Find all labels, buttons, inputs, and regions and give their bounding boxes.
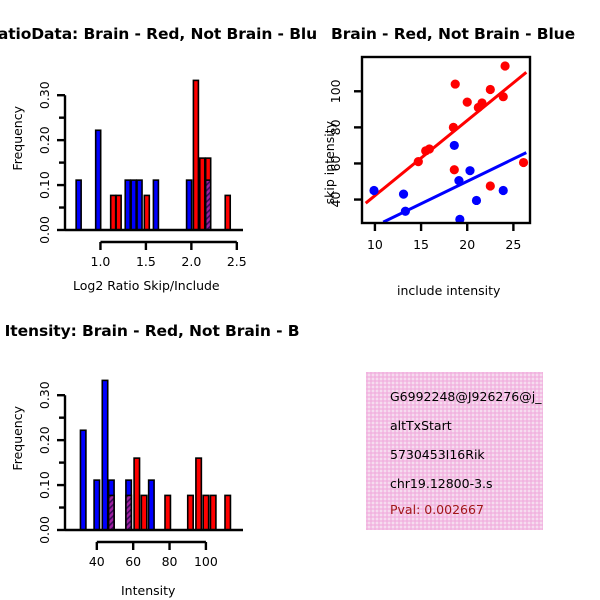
- x-tick-label: 15: [413, 237, 429, 252]
- histogram-bar: [193, 80, 198, 230]
- data-point: [463, 98, 472, 107]
- histogram-bar: [203, 495, 208, 530]
- data-point: [399, 190, 408, 199]
- data-point: [472, 196, 481, 205]
- histogram-bar: [80, 430, 85, 530]
- data-point: [499, 186, 508, 195]
- data-point: [499, 92, 508, 101]
- histogram-bar: [141, 495, 146, 530]
- data-point: [454, 176, 463, 185]
- y-tick-label: 100: [328, 79, 343, 103]
- plot-frame: [362, 57, 530, 223]
- info-gene-symbol: 5730453I16Rik: [390, 447, 542, 462]
- data-point: [519, 158, 528, 167]
- histogram-bar-overlap: [206, 180, 211, 230]
- ratio-histogram-plot: 0.000.100.200.301.01.52.02.5: [0, 0, 300, 300]
- data-point: [414, 157, 423, 166]
- y-tick-label: 0.10: [37, 471, 52, 499]
- intensity-histogram-xlabel: Intensity: [121, 583, 175, 598]
- histogram-bar: [137, 180, 142, 230]
- histogram-bar: [210, 495, 215, 530]
- histogram-bar: [96, 130, 101, 230]
- data-point: [369, 186, 378, 195]
- scatter-title: Brain - Red, Not Brain - Blue: [331, 25, 575, 43]
- ratio-histogram-title: RatioData: Brain - Red, Not Brain - Blu: [0, 25, 317, 43]
- x-tick-label: 20: [459, 237, 475, 252]
- data-point: [486, 85, 495, 94]
- data-point: [401, 207, 410, 216]
- histogram-bar: [116, 195, 121, 230]
- histogram-bar: [225, 195, 230, 230]
- intensity-histogram-title: ne Itensity: Brain - Red, Not Brain - B: [0, 322, 299, 340]
- histogram-bar: [225, 495, 230, 530]
- histogram-bar: [144, 195, 149, 230]
- histogram-bar: [125, 180, 130, 230]
- histogram-bar: [153, 180, 158, 230]
- hist-bars: [80, 380, 230, 530]
- info-event-id: G6992248@J926276@j_: [390, 389, 542, 404]
- y-tick-label: 0.00: [37, 516, 52, 544]
- histogram-bar: [149, 480, 154, 530]
- data-point: [425, 144, 434, 153]
- info-pvalue: Pval: 0.002667: [390, 502, 542, 517]
- scatter-xlabel: include intensity: [397, 283, 500, 298]
- y-tick-label: 0.20: [37, 126, 52, 154]
- histogram-bar: [76, 180, 81, 230]
- data-point: [451, 79, 460, 88]
- data-point: [486, 181, 495, 190]
- x-tick-label: 100: [194, 554, 218, 569]
- histogram-bar: [188, 495, 193, 530]
- data-point: [465, 166, 474, 175]
- hist-bars: [76, 80, 230, 230]
- scatter-ylabel: skip intensity: [322, 121, 337, 204]
- y-tick-label: 0.30: [37, 81, 52, 109]
- x-tick-label: 2.0: [181, 254, 201, 269]
- histogram-bar-overlap: [109, 495, 114, 530]
- x-tick-label: 40: [89, 554, 105, 569]
- intensity-histogram-ylabel: Frequency: [10, 406, 25, 471]
- ratio-histogram-xlabel: Log2 Ratio Skip/Include: [73, 278, 220, 293]
- x-tick-label: 80: [162, 554, 178, 569]
- histogram-bar: [196, 458, 201, 530]
- ratio-histogram-ylabel: Frequency: [10, 106, 25, 171]
- info-locus: chr19.12800-3.s: [390, 476, 542, 491]
- data-point: [477, 98, 486, 107]
- histogram-bar: [134, 458, 139, 530]
- data-point: [450, 141, 459, 150]
- histogram-bar: [102, 380, 107, 530]
- x-tick-label: 25: [505, 237, 521, 252]
- data-point: [449, 123, 458, 132]
- x-tick-label: 1.5: [136, 254, 156, 269]
- intensity-histogram-plot: 0.000.100.200.30406080100: [0, 300, 300, 600]
- y-tick-label: 0.30: [37, 381, 52, 409]
- histogram-bar: [187, 180, 192, 230]
- histogram-bar: [200, 158, 205, 230]
- histogram-bar: [111, 195, 116, 230]
- x-tick-label: 10: [367, 237, 383, 252]
- histogram-bar: [165, 495, 170, 530]
- fit-line-brain_red: [366, 72, 527, 203]
- y-tick-label: 0.20: [37, 426, 52, 454]
- x-tick-label: 60: [125, 554, 141, 569]
- panel-intensity-scatter: Brain - Red, Not Brain - Blue include in…: [300, 0, 600, 300]
- info-event-type: altTxStart: [390, 418, 542, 433]
- event-info-box: G6992248@J926276@j_ altTxStart 5730453I1…: [366, 372, 543, 530]
- panel-intensity-histogram: ne Itensity: Brain - Red, Not Brain - B …: [0, 300, 300, 600]
- y-tick-label: 0.10: [37, 171, 52, 199]
- x-tick-label: 2.5: [227, 254, 247, 269]
- scatter-content: [366, 61, 528, 224]
- y-tick-label: 0.00: [37, 216, 52, 244]
- data-point: [500, 61, 509, 70]
- histogram-bar: [131, 180, 136, 230]
- scatter-plot: 40608010010152025: [300, 0, 600, 300]
- data-point: [450, 165, 459, 174]
- panel-ratio-histogram: RatioData: Brain - Red, Not Brain - Blu …: [0, 0, 300, 300]
- histogram-bar: [94, 480, 99, 530]
- histogram-bar-overlap: [126, 495, 131, 530]
- x-tick-label: 1.0: [91, 254, 111, 269]
